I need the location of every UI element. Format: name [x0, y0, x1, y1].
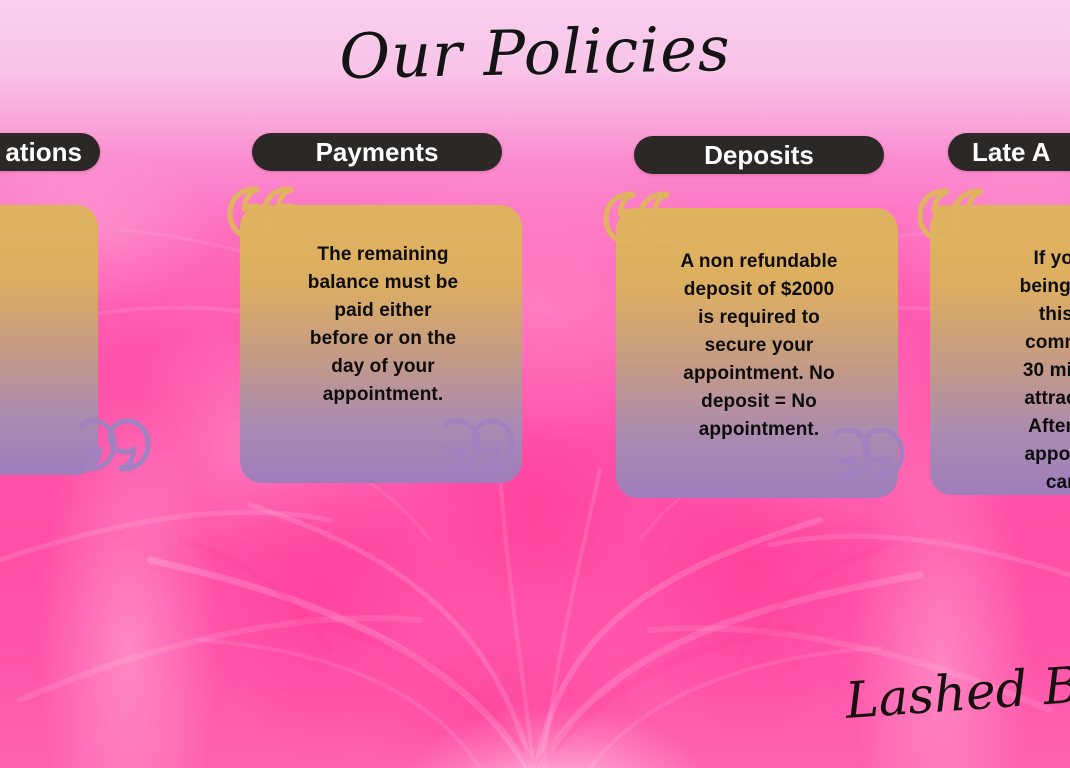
policy-card-late-arrivals: Late A If you an being 5 min this mu com… [922, 133, 1070, 493]
quote-close-icon-payments [444, 415, 516, 477]
fur-strand-overlay [0, 0, 1070, 768]
card-line: appointment. No [630, 360, 888, 388]
card-heading-deposits: Deposits [634, 136, 884, 174]
card-line: day of your [257, 353, 509, 381]
quote-open-icon-deposits [602, 188, 674, 250]
card-line: The remaining [257, 241, 509, 269]
card-heading-late-arrivals: Late A [948, 133, 1070, 171]
card-line: deposit of $2000 [630, 276, 888, 304]
card-line: this mu [944, 301, 1070, 329]
card-line: cance [944, 469, 1070, 497]
policy-card-cancellations: ations 4 hours rior to ur ment is ed to … [0, 133, 100, 493]
card-line: being 5 min [944, 273, 1070, 301]
quote-close-icon-deposits [834, 424, 906, 486]
card-line: deposit = No [630, 388, 888, 416]
card-body-late-arrivals: If you an being 5 min this mu communic 3… [944, 245, 1070, 497]
policy-card-payments: Payments The remaining balance must be p… [232, 133, 532, 493]
card-line: before or on the [257, 325, 509, 353]
card-line: A non refundable [630, 248, 888, 276]
card-line: 30 minutes [944, 357, 1070, 385]
policy-card-deposits: Deposits A non refundable deposit of $20… [608, 136, 908, 496]
card-body-deposits: A non refundable deposit of $2000 is req… [630, 248, 888, 444]
background [0, 0, 1070, 768]
card-body-payments: The remaining balance must be paid eithe… [257, 241, 509, 409]
card-heading-cancellations: ations [0, 133, 100, 171]
card-line: appointment. [257, 381, 509, 409]
card-line: attract a fe [944, 385, 1070, 413]
quote-open-icon-payments [226, 183, 298, 245]
card-line: paid either [257, 297, 509, 325]
card-line: balance must be [257, 269, 509, 297]
card-heading-payments: Payments [252, 133, 502, 171]
card-line: appointme [944, 441, 1070, 469]
card-line: If you an [944, 245, 1070, 273]
card-line: secure your [630, 332, 888, 360]
card-line: After an h [944, 413, 1070, 441]
card-line: is required to [630, 304, 888, 332]
quote-close-icon-cancellations [80, 415, 152, 477]
quote-open-icon-late-arrivals [916, 185, 988, 247]
card-line: communic [944, 329, 1070, 357]
